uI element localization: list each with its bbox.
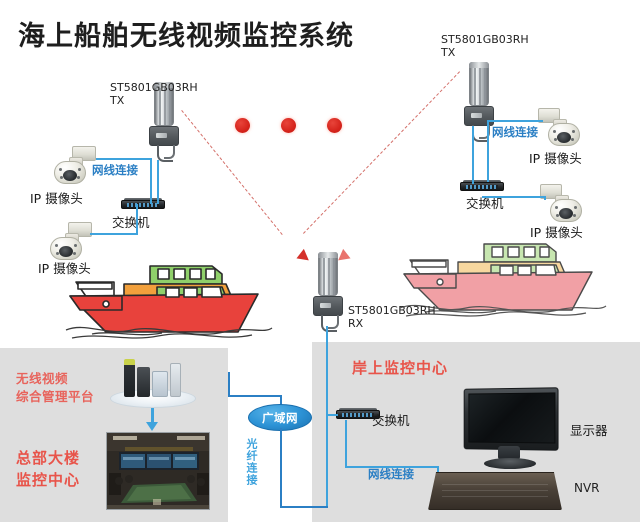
antenna-top-cap	[318, 252, 338, 258]
nvr-vent-line	[442, 490, 548, 491]
nvr-vent-line	[442, 484, 548, 485]
page-title: 海上船舶无线视频监控系统	[18, 14, 354, 53]
ship-right-cable-antenna	[472, 126, 474, 184]
camera-ir-led	[556, 214, 559, 217]
ship-right-cable-cam-top	[487, 120, 543, 122]
ship-left-switch-label: 交换机	[112, 216, 150, 230]
camera-lens	[559, 208, 573, 219]
shore-switch-label: 交换机	[372, 414, 410, 428]
ship-right-antenna-tx	[462, 62, 496, 140]
wan-top-cable-h	[228, 395, 282, 397]
camera-ir-led	[572, 130, 575, 133]
management-platform-servers	[110, 352, 196, 408]
shore-monitor	[462, 388, 558, 472]
wireless-dot-3	[327, 118, 342, 133]
fiber-label: 光纤连接	[246, 438, 257, 486]
camera-ir-led	[554, 138, 557, 141]
camera-lens	[59, 246, 73, 257]
camera-ir-led	[59, 168, 62, 171]
ship-left-antenna-role-label: TX	[110, 95, 124, 108]
antenna-fin	[479, 63, 481, 105]
platform-to-center-arrowhead	[146, 422, 158, 431]
shore-antenna-model-label: ST5801GB03RH	[348, 305, 436, 318]
ship-left-cable-label: 网线连接	[92, 164, 138, 177]
monitor-bezel	[464, 387, 559, 450]
shore-panel-title: 岸上监控中心	[352, 360, 448, 377]
fiber-cable-vertical	[280, 428, 282, 508]
switch-ports	[342, 413, 374, 417]
ship-right-antenna-role-label: TX	[441, 47, 455, 60]
nvr-vent-line	[442, 496, 548, 497]
ship-right-switch-label: 交换机	[466, 197, 504, 211]
ship-left-camera-bottom-label: IP 摄像头	[38, 262, 91, 276]
ship-right-camera-bottom	[540, 184, 586, 222]
ship-right-camera-top-label: IP 摄像头	[529, 152, 582, 166]
ship-left-camera-bottom	[48, 222, 94, 260]
camera-ir-led	[573, 214, 576, 217]
wireless-beam-left	[181, 110, 282, 235]
headquarters-control-room-photo	[106, 432, 210, 510]
fiber-cable-to-shore	[280, 506, 328, 508]
ship-right-cable-cam-bottom-drop	[544, 196, 546, 200]
camera-ir-led	[60, 176, 63, 179]
shore-nvr	[428, 472, 562, 510]
hq-center-label-line2: 监控中心	[16, 472, 80, 489]
camera-ir-led	[73, 252, 76, 255]
ship-left-cable-antenna	[157, 160, 159, 204]
ship-right-switch	[460, 180, 504, 193]
platform-label-line1: 无线视频	[16, 372, 68, 386]
wireless-beam-right	[303, 71, 460, 234]
ship-right-camera-top	[538, 108, 584, 146]
antenna-led-panel	[471, 113, 482, 118]
switch-ports	[127, 203, 159, 207]
ship-left-cable-cam-bottom-riser	[136, 204, 138, 235]
switch-ports	[466, 185, 498, 189]
ship-right-cable-cam-top-drop	[487, 120, 489, 182]
server-unit	[170, 363, 181, 397]
platform-label-line2: 综合管理平台	[16, 390, 94, 404]
antenna-top-cap	[469, 62, 489, 68]
ship-left-illustration	[62, 250, 278, 342]
ship-right-cable-cam-bottom	[482, 196, 544, 198]
ship-left-cable-cam-top	[96, 158, 152, 160]
wan-label: 广域网	[262, 410, 298, 426]
shore-monitor-label: 显示器	[570, 424, 608, 438]
nvr-chassis	[428, 472, 562, 510]
camera-ir-led	[56, 252, 59, 255]
server-unit	[137, 367, 150, 397]
antenna-fin	[484, 63, 486, 105]
antenna-fin	[323, 253, 325, 295]
ship-left-cable-cam-top-drop	[150, 158, 152, 204]
antenna-cable	[328, 315, 339, 329]
camera-ir-led	[74, 244, 77, 247]
wireless-dot-1	[235, 118, 250, 133]
wan-cloud-node: 广域网	[248, 404, 312, 431]
camera-ir-led	[55, 244, 58, 247]
ship-right-antenna-model-label: ST5801GB03RH	[441, 34, 529, 47]
antenna-cable	[164, 145, 175, 159]
camera-ir-led	[77, 176, 80, 179]
server-unit	[152, 371, 168, 397]
camera-lens	[557, 132, 571, 143]
antenna-fin	[328, 253, 330, 295]
shore-cable-label: 网线连接	[368, 468, 414, 481]
antenna-fin	[474, 63, 476, 105]
camera-ir-led	[571, 138, 574, 141]
antenna-led-panel	[320, 303, 331, 308]
diagram-canvas: 海上船舶无线视频监控系统	[0, 0, 640, 522]
shore-switch-downlink	[345, 420, 347, 468]
camera-ir-led	[553, 130, 556, 133]
wireless-dot-2	[281, 118, 296, 133]
wan-top-cable-left-riser	[228, 372, 230, 396]
ship-right-cable-label: 网线连接	[492, 126, 538, 139]
antenna-led-panel	[156, 133, 167, 138]
camera-ir-led	[555, 206, 558, 209]
camera-ir-led	[574, 206, 577, 209]
monitor-screen	[468, 392, 555, 443]
hq-center-label-line1: 总部大楼	[16, 450, 80, 467]
server-unit	[124, 359, 135, 397]
ship-left-cable-cam-bottom	[90, 233, 138, 235]
ship-left-antenna-model-label: ST5801GB03RH	[110, 82, 198, 95]
shore-antenna-role-label: RX	[348, 318, 363, 331]
camera-ir-led	[78, 168, 81, 171]
shore-fiber-riser	[326, 414, 328, 506]
shore-nvr-label: NVR	[574, 482, 600, 496]
shore-antenna-rx	[311, 252, 345, 330]
antenna-fin	[333, 253, 335, 295]
ship-left-camera-top-label: IP 摄像头	[30, 192, 83, 206]
ship-right-camera-bottom-label: IP 摄像头	[530, 226, 583, 240]
shore-antenna-downlink-cable	[326, 326, 328, 414]
monitor-base	[484, 458, 536, 469]
camera-lens	[63, 170, 77, 181]
